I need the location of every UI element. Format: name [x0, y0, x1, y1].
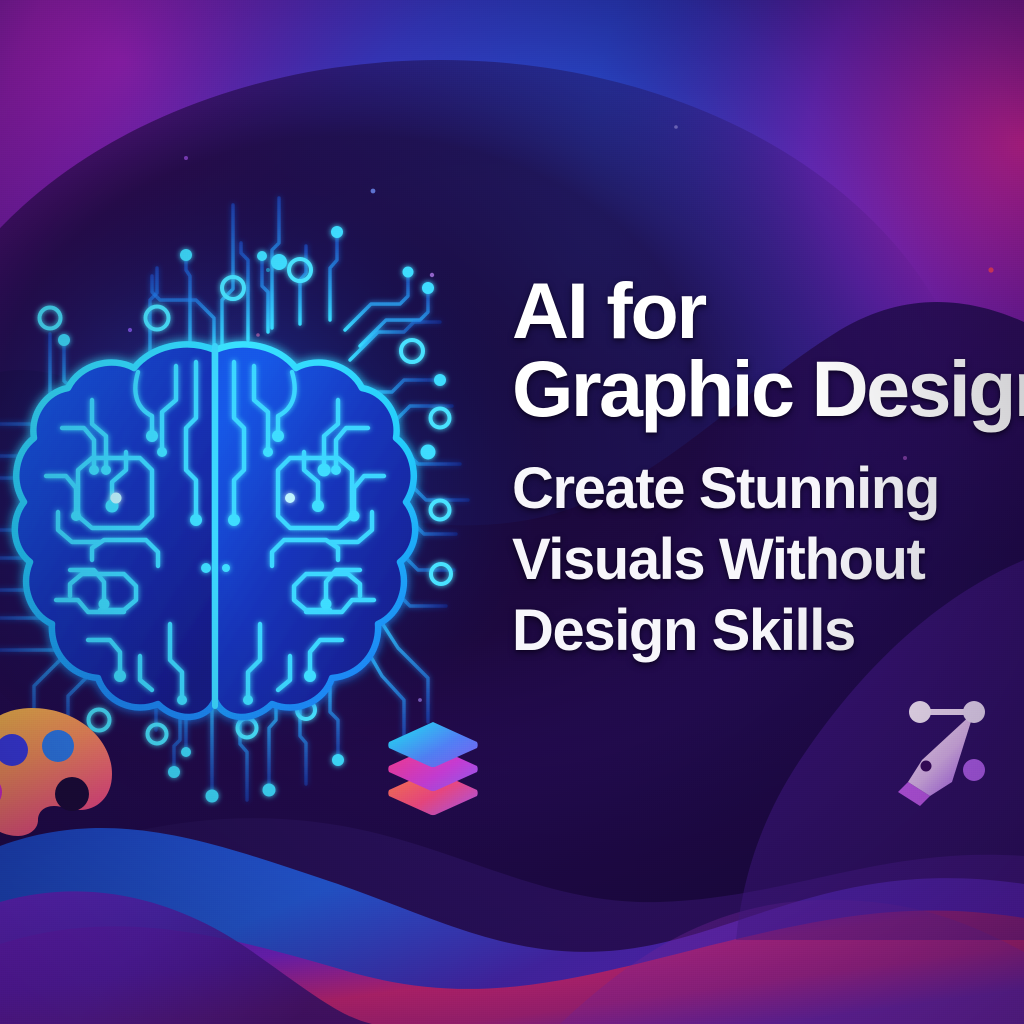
- ai-circuit-brain-illustration: [0, 0, 1024, 1024]
- brain-body: [15, 344, 415, 717]
- palette-body: [0, 708, 112, 836]
- promo-banner: AI for Graphic Design Create Stunning Vi…: [0, 0, 1024, 1024]
- pen-nib: [908, 712, 974, 796]
- palette-icon: [0, 700, 126, 840]
- pen-nib-hole: [921, 761, 932, 772]
- palette-thumb-hole: [55, 777, 89, 811]
- layers-icon: [381, 716, 485, 820]
- anchor-point-left: [909, 701, 931, 723]
- palette-dot-lightblue: [42, 730, 74, 762]
- pen-tool-icon: [890, 694, 1006, 810]
- anchor-point-bottom: [963, 759, 985, 781]
- anchor-point-top: [963, 701, 985, 723]
